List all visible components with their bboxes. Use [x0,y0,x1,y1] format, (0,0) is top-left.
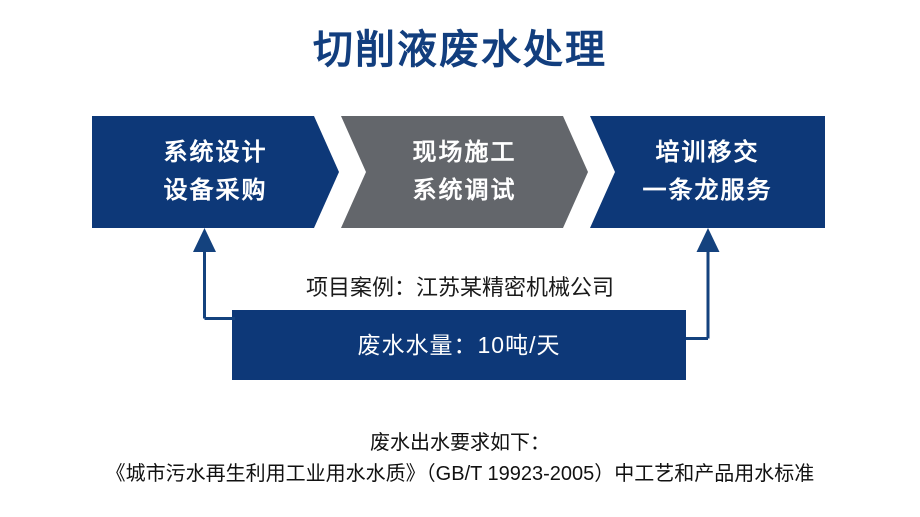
process-step-1-line2: 设备采购 [164,172,268,210]
process-step-1[interactable]: 系统设计 设备采购 [92,116,339,228]
connector-arrow-right [672,222,732,342]
process-step-2-line2: 系统调试 [413,172,517,210]
process-step-1-line1: 系统设计 [164,134,268,172]
process-step-1-label: 系统设计 设备采购 [164,134,268,210]
footer-line-1: 废水出水要求如下： [0,428,920,458]
process-step-3-line2: 一条龙服务 [643,172,773,210]
process-step-3-line1: 培训移交 [643,134,773,172]
wastewater-volume-banner: 废水水量：10吨/天 [232,310,686,380]
process-step-2-line1: 现场施工 [413,134,517,172]
process-step-3-label: 培训移交 一条龙服务 [643,134,773,210]
case-study-text: 项目案例：江苏某精密机械公司 [0,272,920,304]
process-step-2-label: 现场施工 系统调试 [413,134,517,210]
process-step-3[interactable]: 培训移交 一条龙服务 [590,116,825,228]
process-step-2[interactable]: 现场施工 系统调试 [341,116,588,228]
footer-line-2: 《城市污水再生利用工业用水水质》（GB/T 19923-2005）中工艺和产品用… [0,458,920,490]
connector-arrow-left [185,222,245,322]
page-title: 切削液废水处理 [0,26,920,74]
footer-notes: 废水出水要求如下： 《城市污水再生利用工业用水水质》（GB/T 19923-20… [0,428,920,490]
wastewater-volume-label: 废水水量：10吨/天 [358,328,561,362]
slide-canvas: 切削液废水处理 系统设计 设备采购 现场施工 系统调试 培训移交 一条龙服务 [0,0,920,517]
